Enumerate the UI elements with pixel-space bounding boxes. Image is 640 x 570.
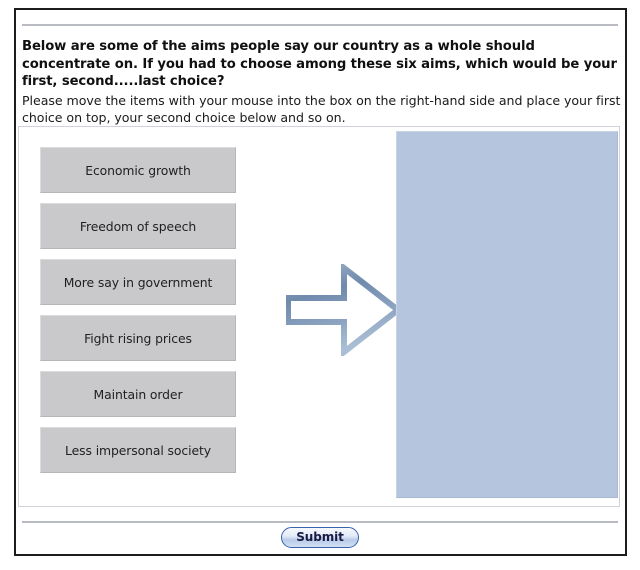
- list-item[interactable]: Economic growth: [40, 147, 236, 193]
- list-item[interactable]: Less impersonal society: [40, 427, 236, 473]
- list-item-label: Economic growth: [85, 163, 191, 178]
- footer-divider: [22, 521, 618, 523]
- question-title: Below are some of the aims people say ou…: [22, 38, 622, 91]
- page-frame-left: [14, 8, 16, 556]
- list-item[interactable]: Maintain order: [40, 371, 236, 417]
- page-frame-top: [14, 8, 627, 10]
- page-frame-bottom: [14, 554, 627, 556]
- submit-row: Submit: [0, 527, 640, 548]
- page-frame-right: [625, 8, 627, 556]
- question-block: Below are some of the aims people say ou…: [22, 38, 622, 127]
- header-divider: [22, 24, 618, 26]
- list-item[interactable]: Fight rising prices: [40, 315, 236, 361]
- submit-button[interactable]: Submit: [281, 527, 359, 548]
- ranking-drop-zone[interactable]: [396, 131, 618, 498]
- question-instruction: Please move the items with your mouse in…: [22, 92, 622, 127]
- list-item-label: Freedom of speech: [80, 219, 196, 234]
- list-item-label: Fight rising prices: [84, 331, 192, 346]
- list-item-label: Maintain order: [94, 387, 183, 402]
- list-item-label: Less impersonal society: [65, 443, 211, 458]
- right-arrow-icon: [286, 264, 400, 356]
- list-item[interactable]: Freedom of speech: [40, 203, 236, 249]
- survey-page: Below are some of the aims people say ou…: [0, 0, 640, 570]
- list-item[interactable]: More say in government: [40, 259, 236, 305]
- source-item-list[interactable]: Economic growth Freedom of speech More s…: [40, 147, 236, 483]
- list-item-label: More say in government: [64, 275, 213, 290]
